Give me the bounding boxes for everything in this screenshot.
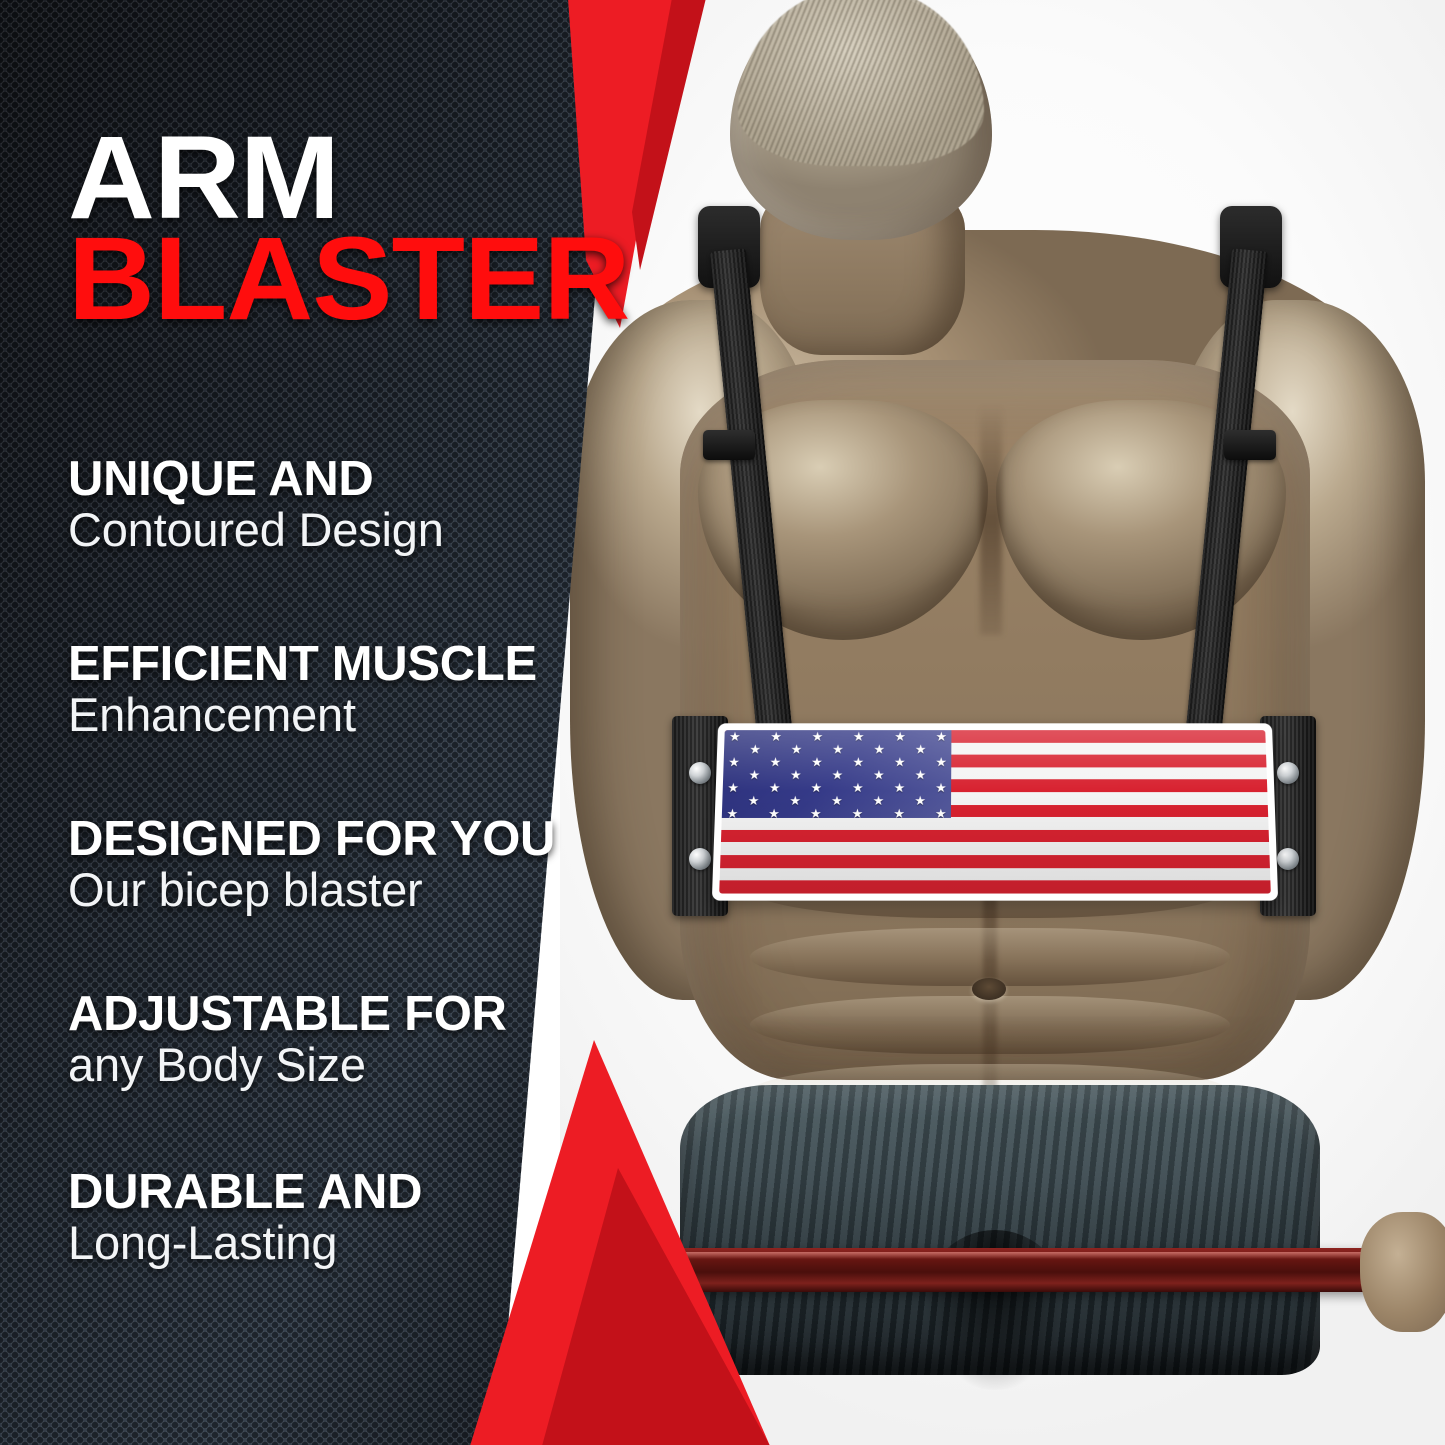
feature-item-3: DESIGNED FOR YOU Our bicep blaster [68, 815, 668, 917]
flag-stars: ★★★★★★★★★★★★★★★★★★★★★★★★★★★★★★★★★★★★★★★★… [722, 730, 952, 818]
feature-item-4: ADJUSTABLE FOR any Body Size [68, 990, 668, 1092]
flag-star: ★ [853, 730, 865, 743]
feature-headline: DURABLE AND [68, 1168, 668, 1217]
product-photo: ★★★★★★★★★★★★★★★★★★★★★★★★★★★★★★★★★★★★★★★★… [560, 0, 1445, 1445]
flag-star: ★ [935, 781, 947, 794]
feature-subtext: any Body Size [68, 1039, 668, 1092]
flag-star: ★ [748, 768, 760, 781]
flag-star: ★ [790, 768, 802, 781]
rivet-top-right [1277, 762, 1299, 784]
feature-subtext: Contoured Design [68, 504, 668, 557]
flag-star: ★ [915, 768, 927, 781]
flag-star: ★ [873, 768, 885, 781]
flag-star: ★ [768, 807, 780, 818]
flag-star: ★ [791, 743, 803, 756]
flag-star: ★ [811, 756, 823, 769]
flag-canton: ★★★★★★★★★★★★★★★★★★★★★★★★★★★★★★★★★★★★★★★★… [722, 730, 952, 818]
flag-star: ★ [831, 768, 843, 781]
flag-star: ★ [935, 807, 947, 818]
flag-star: ★ [749, 743, 761, 756]
feature-headline: ADJUSTABLE FOR [68, 990, 668, 1039]
flag-star: ★ [894, 730, 906, 743]
product-marketing-image: ★★★★★★★★★★★★★★★★★★★★★★★★★★★★★★★★★★★★★★★★… [0, 0, 1445, 1445]
feature-item-5: DURABLE AND Long-Lasting [68, 1168, 668, 1270]
rivet-bottom-left [689, 848, 711, 870]
flag-star: ★ [728, 756, 740, 769]
feature-headline: UNIQUE AND [68, 455, 668, 504]
flag-star: ★ [893, 807, 905, 818]
left-strap-buckle [703, 430, 755, 460]
usa-flag: ★★★★★★★★★★★★★★★★★★★★★★★★★★★★★★★★★★★★★★★★… [719, 730, 1271, 893]
flag-star: ★ [770, 730, 782, 743]
flag-star: ★ [935, 756, 947, 769]
right-strap-buckle [1224, 430, 1276, 460]
page-title: ARM BLASTER [68, 128, 618, 331]
flag-star: ★ [894, 781, 906, 794]
feature-subtext: Our bicep blaster [68, 864, 668, 917]
flag-star: ★ [769, 781, 781, 794]
flag-star: ★ [832, 743, 844, 756]
flag-star: ★ [769, 756, 781, 769]
feature-subtext: Long-Lasting [68, 1217, 668, 1270]
navel [972, 978, 1006, 1000]
flag-star: ★ [873, 743, 885, 756]
flag-star: ★ [873, 794, 885, 807]
flag-star: ★ [914, 794, 926, 807]
sternum-shadow [980, 405, 1002, 635]
flag-star: ★ [729, 730, 741, 743]
rivet-top-left [689, 762, 711, 784]
flag-star: ★ [852, 807, 864, 818]
flag-star: ★ [894, 756, 906, 769]
flag-star: ★ [748, 794, 760, 807]
flag-star: ★ [727, 781, 739, 794]
flag-star: ★ [915, 743, 927, 756]
ab-row [750, 996, 1230, 1054]
feature-subtext: Enhancement [68, 689, 668, 742]
hand-on-barbell [1360, 1212, 1445, 1332]
flag-star: ★ [852, 781, 864, 794]
flag-star: ★ [831, 794, 843, 807]
barbell-highlight [560, 1252, 1445, 1259]
flag-star: ★ [936, 730, 948, 743]
flag-star: ★ [726, 807, 738, 818]
feature-headline: DESIGNED FOR YOU [68, 815, 668, 864]
flag-star: ★ [810, 781, 822, 794]
flag-star: ★ [812, 730, 824, 743]
arm-blaster-pad: ★★★★★★★★★★★★★★★★★★★★★★★★★★★★★★★★★★★★★★★★… [712, 723, 1278, 900]
flag-star: ★ [852, 756, 864, 769]
flag-star: ★ [810, 807, 822, 818]
feature-headline: EFFICIENT MUSCLE [68, 640, 668, 689]
flag-star: ★ [789, 794, 801, 807]
hair [738, 0, 984, 166]
title-line-blaster: BLASTER [68, 229, 629, 330]
feature-item-2: EFFICIENT MUSCLE Enhancement [68, 640, 668, 742]
rivet-bottom-right [1277, 848, 1299, 870]
feature-item-1: UNIQUE AND Contoured Design [68, 455, 668, 557]
